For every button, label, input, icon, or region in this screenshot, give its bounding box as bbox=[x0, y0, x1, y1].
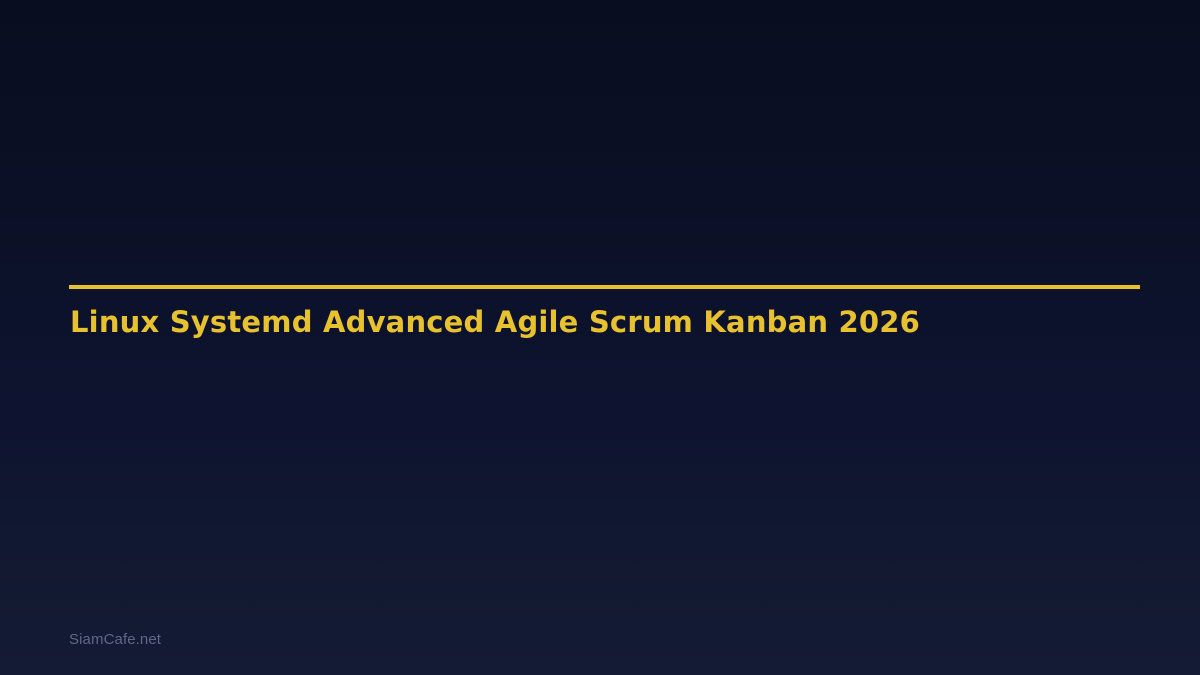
title-divider-rule bbox=[69, 285, 1140, 289]
slide-footer: SiamCafe.net bbox=[69, 631, 161, 649]
page-title: Linux Systemd Advanced Agile Scrum Kanba… bbox=[70, 304, 920, 340]
slide-title-block: Linux Systemd Advanced Agile Scrum Kanba… bbox=[69, 285, 1140, 289]
footer-brand-label: SiamCafe.net bbox=[69, 631, 161, 648]
presentation-slide: Linux Systemd Advanced Agile Scrum Kanba… bbox=[0, 0, 1200, 675]
